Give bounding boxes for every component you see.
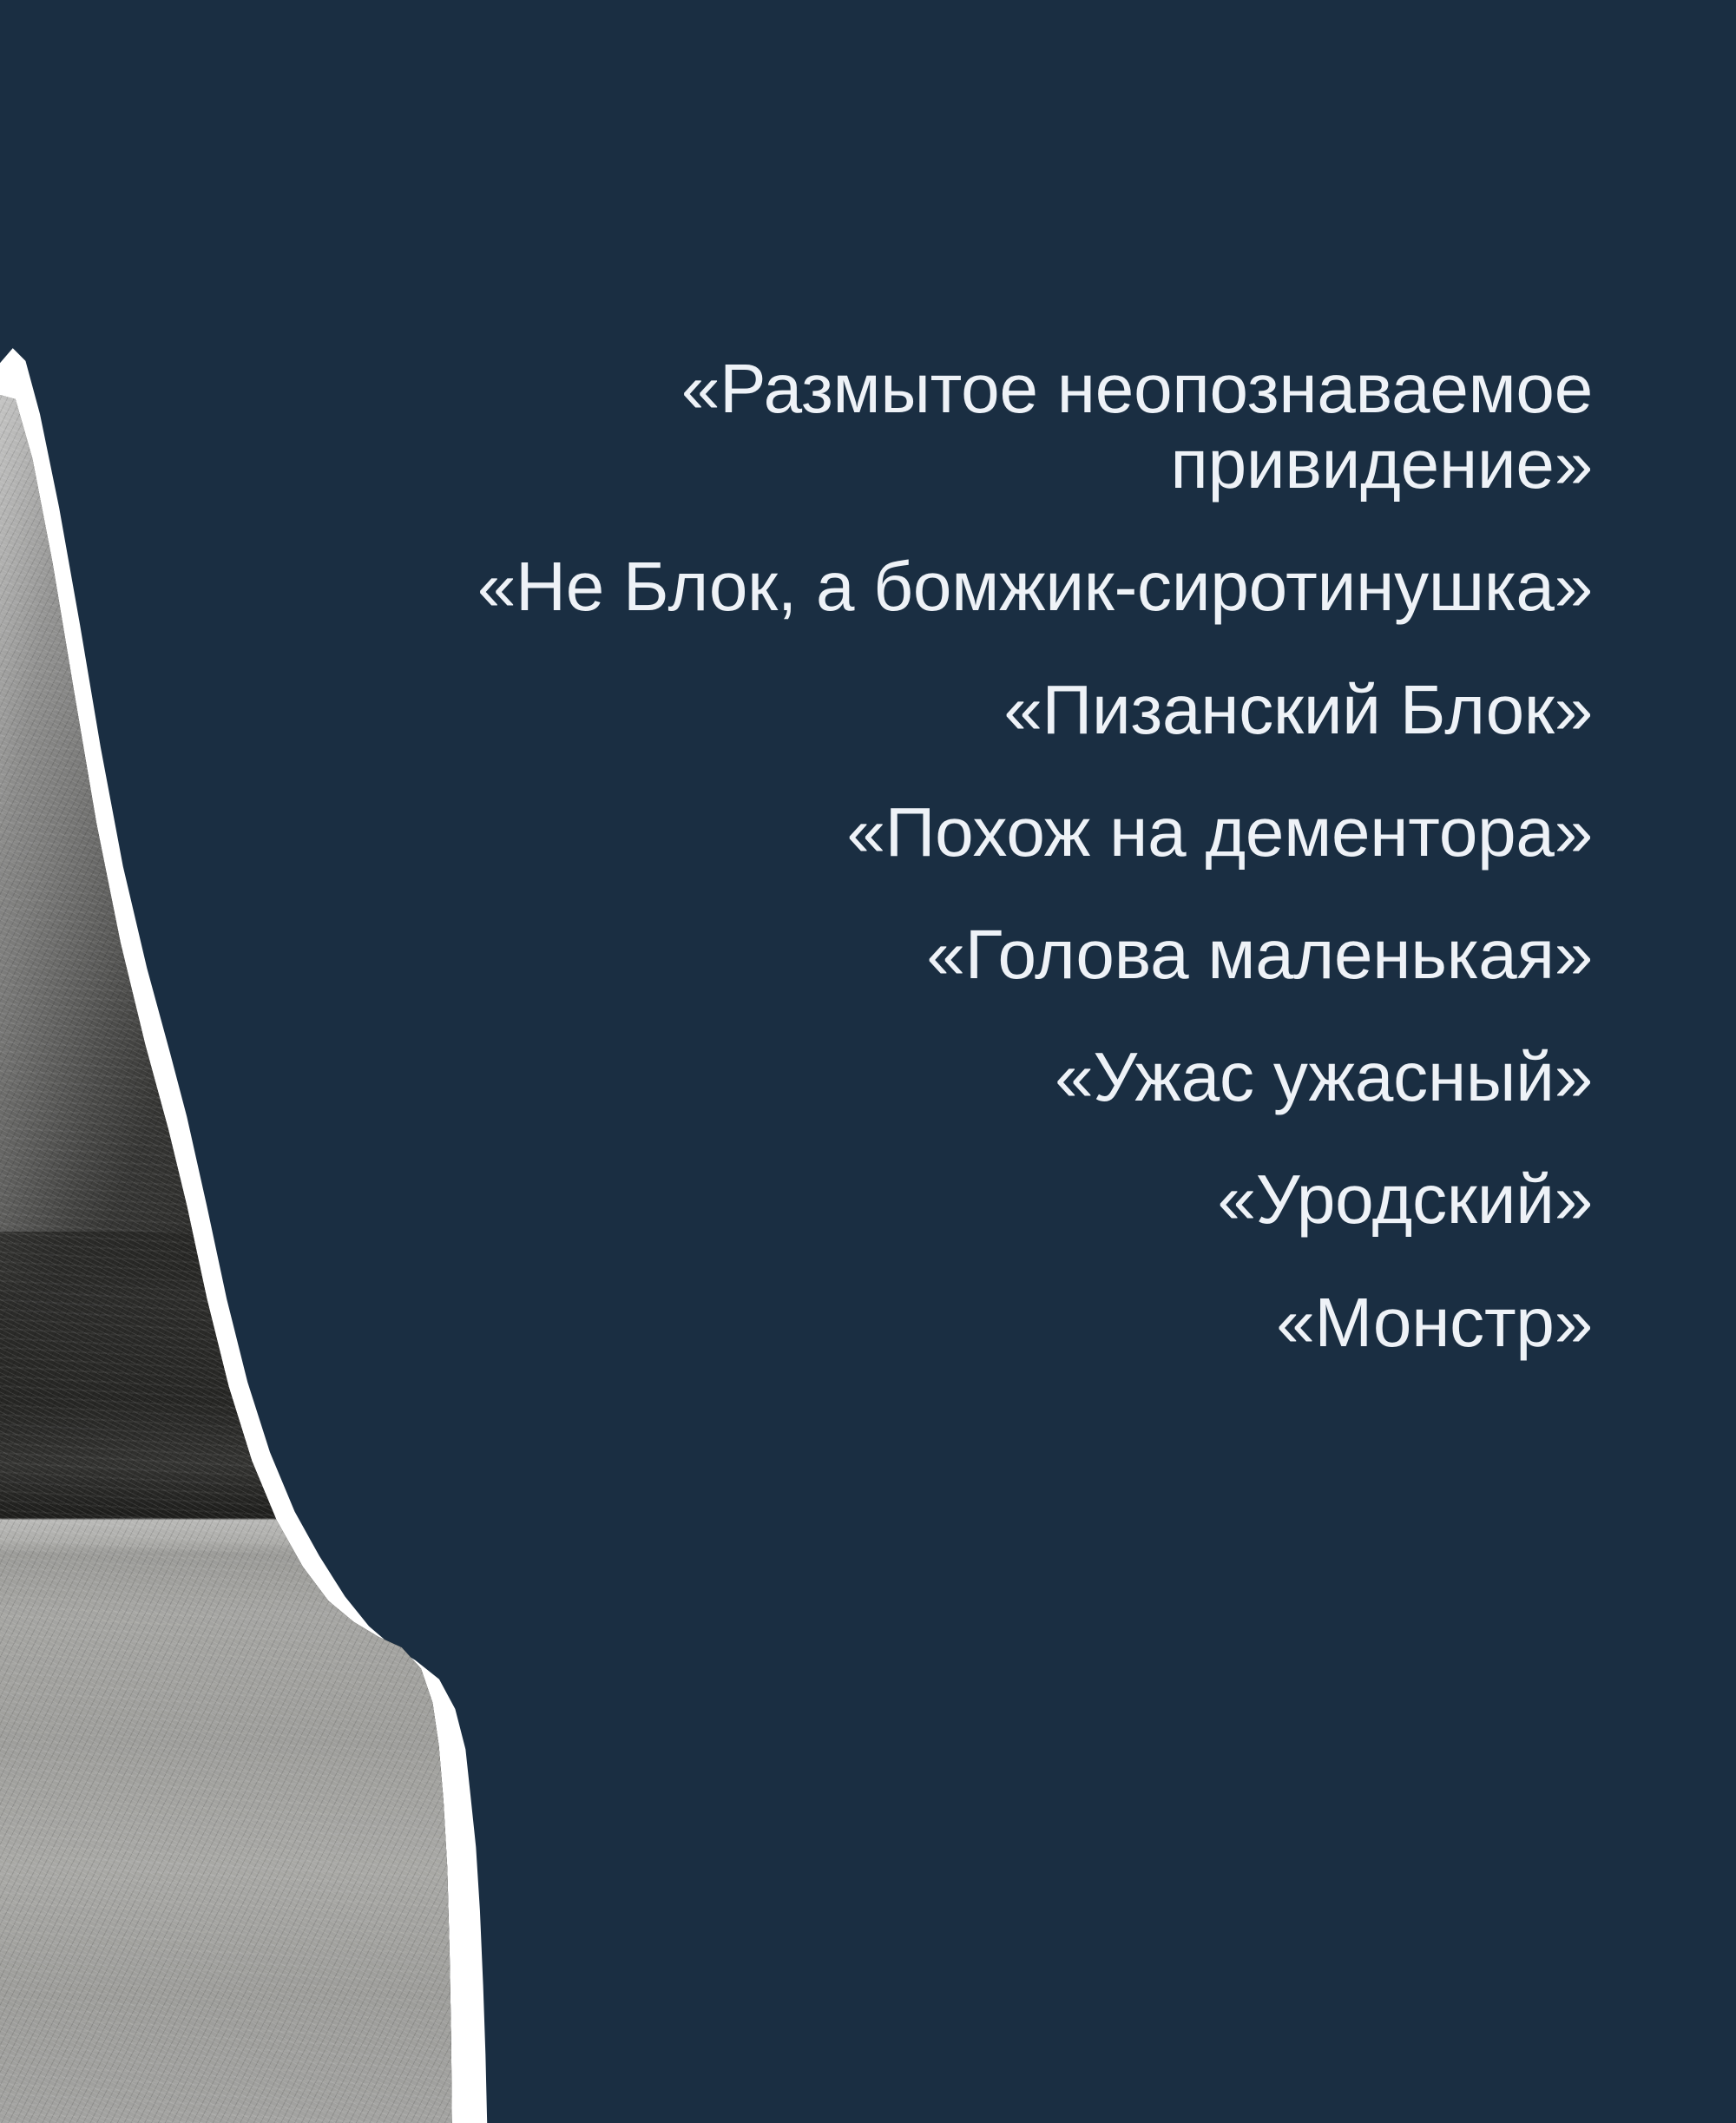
quote-line: «Монстр» (464, 1285, 1593, 1360)
slide-root: «Размытое неопознаваемое привидение» «Не… (0, 0, 1736, 2123)
quote-line: «Размытое неопознаваемое привидение» (464, 351, 1593, 502)
quote-line: «Голова маленькая» (464, 917, 1593, 992)
quote-line: «Ужас ужасный» (464, 1039, 1593, 1114)
quote-line: «Не Блок, а бомжик-сиротинушка» (464, 549, 1593, 624)
quote-list: «Размытое неопознаваемое привидение» «Не… (464, 351, 1593, 1360)
quote-line: «Похож на дементора» (464, 794, 1593, 870)
quote-line: «Уродский» (464, 1161, 1593, 1237)
quote-line: «Пизанский Блок» (464, 672, 1593, 747)
